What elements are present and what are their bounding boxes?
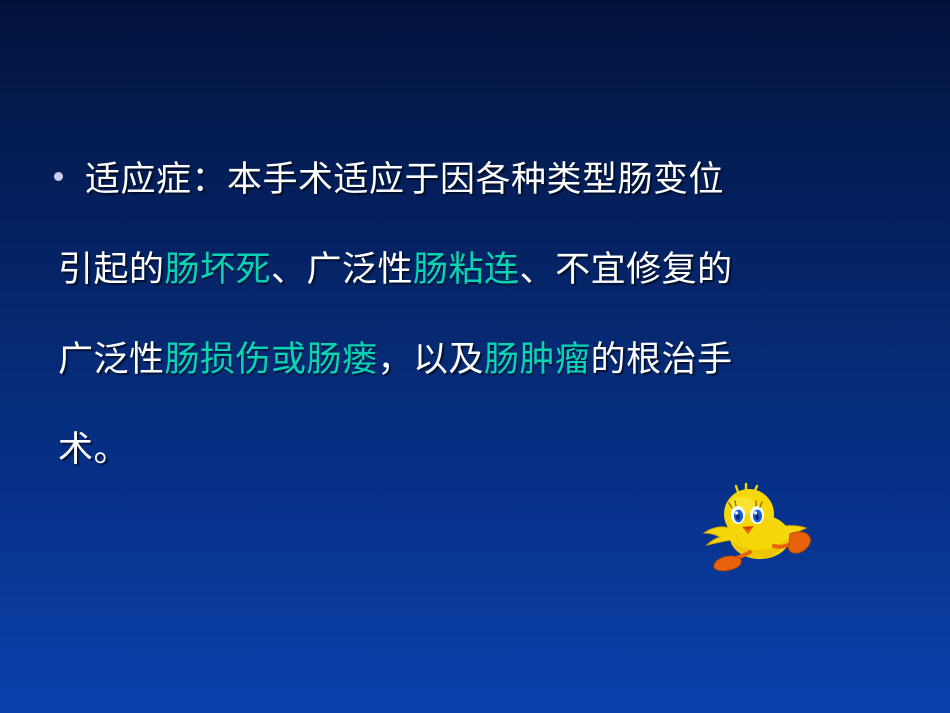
text-segment: 适应症：本手术适应于因各种类型肠变位 bbox=[85, 160, 724, 200]
tweety-bird-clipart bbox=[702, 482, 814, 582]
text-segment: 术。 bbox=[58, 430, 129, 470]
slide-body-text: 适应症：本手术适应于因各种类型肠变位 引起的肠坏死、广泛性肠粘连、不宜修复的 广… bbox=[52, 158, 842, 472]
text-line-4: 术。 bbox=[52, 428, 842, 472]
highlighted-term: 肠肿瘤 bbox=[484, 340, 591, 380]
text-segment: 、广泛性 bbox=[271, 250, 413, 290]
text-line-1: 适应症：本手术适应于因各种类型肠变位 bbox=[52, 158, 842, 202]
text-segment: 引起的 bbox=[58, 250, 165, 290]
text-line-3: 广泛性肠损伤或肠瘘，以及肠肿瘤的根治手 bbox=[52, 338, 842, 382]
text-segment: 广泛性 bbox=[58, 340, 165, 380]
highlighted-term: 肠粘连 bbox=[413, 250, 520, 290]
bullet-point-icon bbox=[54, 172, 63, 181]
text-segment: ，以及 bbox=[378, 340, 485, 380]
highlighted-term: 肠坏死 bbox=[165, 250, 272, 290]
presentation-slide: 适应症：本手术适应于因各种类型肠变位 引起的肠坏死、广泛性肠粘连、不宜修复的 广… bbox=[0, 0, 950, 713]
text-segment: 、不宜修复的 bbox=[520, 250, 733, 290]
highlighted-term: 肠损伤或肠瘘 bbox=[165, 340, 378, 380]
text-segment: 的根治手 bbox=[591, 340, 733, 380]
text-line-2: 引起的肠坏死、广泛性肠粘连、不宜修复的 bbox=[52, 248, 842, 292]
